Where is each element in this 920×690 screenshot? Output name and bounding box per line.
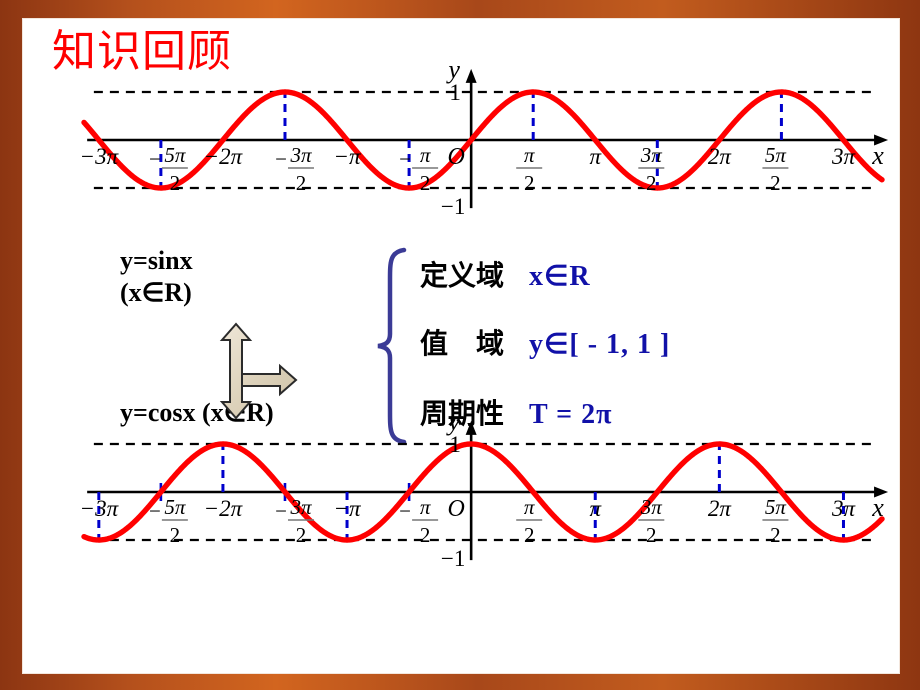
y-tick-label: −1 (441, 546, 465, 571)
property-name: 定义域 (420, 259, 504, 292)
origin-label: O (447, 496, 464, 522)
property-value: x∈R (529, 261, 591, 292)
tick-label: 2 (646, 171, 657, 195)
tick-label: −3π (80, 144, 120, 169)
y-axis-arrow (466, 421, 477, 435)
tick-label: − (275, 147, 287, 171)
tick-label: π (420, 143, 431, 167)
tick-label: 2 (770, 523, 781, 547)
y-axis-label: y (445, 66, 460, 84)
three-way-arrow-icon (200, 310, 310, 432)
tick-label: −π (334, 144, 363, 169)
sine-domain-label: (x∈R) (120, 278, 192, 308)
tick-label: 5π (164, 495, 186, 519)
tick-label: 3π (831, 496, 857, 521)
sine-graph: −3π−5π2−2π−3π2−π−π2π2π3π22π5π23πO1−1yx (22, 66, 900, 246)
tick-label: 5π (765, 495, 787, 519)
y-tick-label: −1 (441, 194, 465, 219)
tick-label: 5π (164, 143, 186, 167)
tick-label: 2 (646, 523, 657, 547)
x-axis-label: x (871, 493, 884, 522)
cosine-graph: −3π−5π2−2π−3π2−π−π2π2π3π22π5π23πO1−1yx (22, 418, 900, 598)
sine-graph-svg: −3π−5π2−2π−3π2−π−π2π2π3π22π5π23πO1−1yx (22, 66, 900, 246)
tick-label: 3π (640, 143, 663, 167)
tick-label: π (420, 495, 431, 519)
tick-label: π (589, 496, 602, 521)
tick-label: −3π (80, 496, 120, 521)
slide-frame: 知识回顾 −3π−5π2−2π−3π2−π−π2π2π3π22π5π23πO1−… (0, 0, 920, 690)
tick-label: 2π (708, 496, 733, 521)
tick-label: 3π (640, 495, 663, 519)
property-name: 值 域 (420, 327, 504, 360)
tick-label: 2 (420, 523, 431, 547)
tick-label: 5π (765, 143, 787, 167)
tick-label: −π (334, 496, 363, 521)
tick-label: 3π (289, 495, 312, 519)
tick-label: 2 (524, 171, 535, 195)
tick-label: −2π (204, 144, 244, 169)
tick-label: −2π (204, 496, 244, 521)
tick-label: − (399, 499, 411, 523)
tick-label: 2 (524, 523, 535, 547)
slide-content: 知识回顾 −3π−5π2−2π−3π2−π−π2π2π3π22π5π23πO1−… (22, 18, 900, 674)
tick-label: 2 (296, 171, 307, 195)
tick-label: 2 (170, 171, 181, 195)
summary-block: y=sinx (x∈R) y=cosx (x∈R) 定义域 x∈R (22, 240, 900, 430)
tick-label: π (589, 144, 602, 169)
tick-label: 3π (831, 144, 857, 169)
tick-label: − (149, 499, 161, 523)
sine-function-label: y=sinx (120, 246, 193, 276)
property-row-domain: 定义域 x∈R (420, 254, 591, 294)
tick-label: − (275, 499, 287, 523)
tick-label: 2 (420, 171, 431, 195)
tick-label: 3π (289, 143, 312, 167)
left-curly-brace-icon (374, 246, 414, 446)
tick-label: 2 (296, 523, 307, 547)
y-axis-arrow (466, 69, 477, 83)
origin-label: O (447, 144, 464, 170)
tick-label: π (524, 143, 535, 167)
tick-label: − (149, 147, 161, 171)
y-axis-label: y (445, 418, 460, 436)
tick-label: 2 (170, 523, 181, 547)
tick-label: − (399, 147, 411, 171)
tick-label: 2π (708, 144, 733, 169)
property-value: y∈[ - 1, 1 ] (529, 329, 670, 360)
tick-label: 2 (770, 171, 781, 195)
cosine-graph-svg: −3π−5π2−2π−3π2−π−π2π2π3π22π5π23πO1−1yx (22, 418, 900, 598)
property-row-range: 值 域 y∈[ - 1, 1 ] (420, 322, 670, 362)
x-axis-label: x (871, 141, 884, 170)
tick-label: π (524, 495, 535, 519)
